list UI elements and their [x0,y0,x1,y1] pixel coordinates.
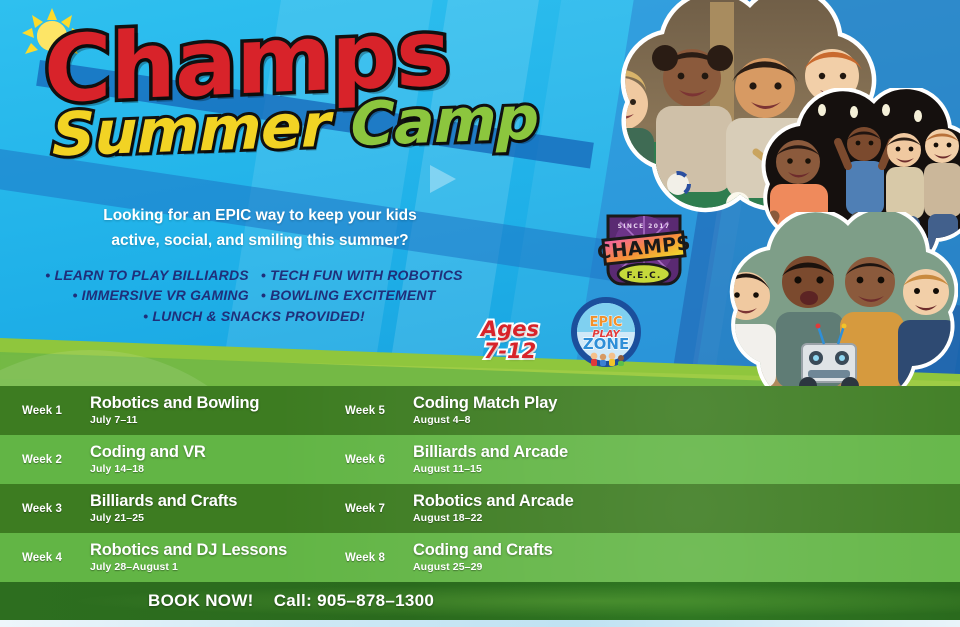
epic-logo-line1: EPIC [590,315,623,330]
title-word-camp: Camp [351,83,539,160]
week-dates: August 18–22 [413,512,574,524]
week-title: Robotics and Arcade [413,493,574,510]
feature-line: • IMMERSIVE VR GAMING • BOWLING EXCITEME… [14,285,494,305]
week-label: Week 1 [22,405,90,417]
week-dates: July 14–18 [90,463,206,475]
week-label: Week 4 [22,552,90,564]
week-title: Billiards and Crafts [90,493,237,510]
ages-range: 7-12 [481,340,539,362]
tagline-line-1: Looking for an EPIC way to keep your kid… [60,203,460,228]
schedule-cell: Week 8 Coding and Crafts August 25–29 [340,533,700,582]
call-label: Call: [274,591,312,610]
poster-title: Champs Summer Camp [44,18,539,157]
schedule-table: Week 1 Robotics and Bowling July 7–11 We… [0,386,960,582]
schedule-cell: Week 3 Billiards and Crafts July 21–25 [0,484,340,533]
book-now-label: BOOK NOW! [148,591,254,610]
tagline: Looking for an EPIC way to keep your kid… [60,203,460,253]
schedule-cell: Week 7 Robotics and Arcade August 18–22 [340,484,700,533]
footer-cta-bar: BOOK NOW! Call: 905–878–1300 [0,582,960,620]
champs-logo-bottom-text: F.E.C. [626,271,661,281]
feature-item: • BOWLING EXCITEMENT [261,285,436,305]
schedule-cell: Week 1 Robotics and Bowling July 7–11 [0,386,340,435]
ages-label: Ages [481,318,539,340]
feature-line: • LEARN TO PLAY BILLIARDS • TECH FUN WIT… [14,265,494,285]
footer-cta-text: BOOK NOW! Call: 905–878–1300 [148,591,434,611]
week-title: Billiards and Arcade [413,444,568,461]
week-dates: July 21–25 [90,512,237,524]
title-word-summer: Summer [52,90,330,170]
week-title: Robotics and Bowling [90,395,259,412]
title-summer-camp: Summer Camp [52,88,539,165]
week-title: Coding and VR [90,444,206,461]
feature-list: • LEARN TO PLAY BILLIARDS • TECH FUN WIT… [14,265,494,326]
week-label: Week 3 [22,503,90,515]
feature-item: • TECH FUN WITH ROBOTICS [261,265,463,285]
table-row: Week 3 Billiards and Crafts July 21–25 W… [0,484,960,533]
week-dates: July 28–August 1 [90,561,287,573]
tagline-line-2: active, social, and smiling this summer? [60,228,460,253]
week-dates: July 7–11 [90,414,259,426]
epic-logo-line3: ZONE [583,335,629,353]
week-dates: August 25–29 [413,561,553,573]
week-label: Week 7 [345,503,413,515]
week-label: Week 6 [345,454,413,466]
week-title: Coding Match Play [413,395,557,412]
schedule-cell: Week 5 Coding Match Play August 4–8 [340,386,700,435]
week-label: Week 2 [22,454,90,466]
epic-play-zone-logo: EPIC PLAY ZONE [570,296,642,368]
week-label: Week 8 [345,552,413,564]
feature-line: • LUNCH & SNACKS PROVIDED! [14,306,494,326]
ages-badge: Ages 7-12 [481,318,539,363]
schedule-cell: Week 6 Billiards and Arcade August 11–15 [340,435,700,484]
week-dates: August 4–8 [413,414,557,426]
feature-item: • LUNCH & SNACKS PROVIDED! [143,306,365,326]
schedule-cell: Week 4 Robotics and DJ Lessons July 28–A… [0,533,340,582]
table-row: Week 2 Coding and VR July 14–18 Week 6 B… [0,435,960,484]
bottom-strip [0,620,960,627]
triangle-accent-icon [430,165,456,193]
feature-item: • IMMERSIVE VR GAMING [72,285,248,305]
week-title: Robotics and DJ Lessons [90,542,287,559]
week-label: Week 5 [345,405,413,417]
table-row: Week 1 Robotics and Bowling July 7–11 We… [0,386,960,435]
feature-item: • LEARN TO PLAY BILLIARDS [45,265,249,285]
table-row: Week 4 Robotics and DJ Lessons July 28–A… [0,533,960,582]
summer-camp-poster: Champs Summer Camp Looking for an EPIC w… [0,0,960,627]
schedule-cell: Week 2 Coding and VR July 14–18 [0,435,340,484]
week-title: Coding and Crafts [413,542,553,559]
week-dates: August 11–15 [413,463,568,475]
phone-number[interactable]: 905–878–1300 [317,591,434,610]
